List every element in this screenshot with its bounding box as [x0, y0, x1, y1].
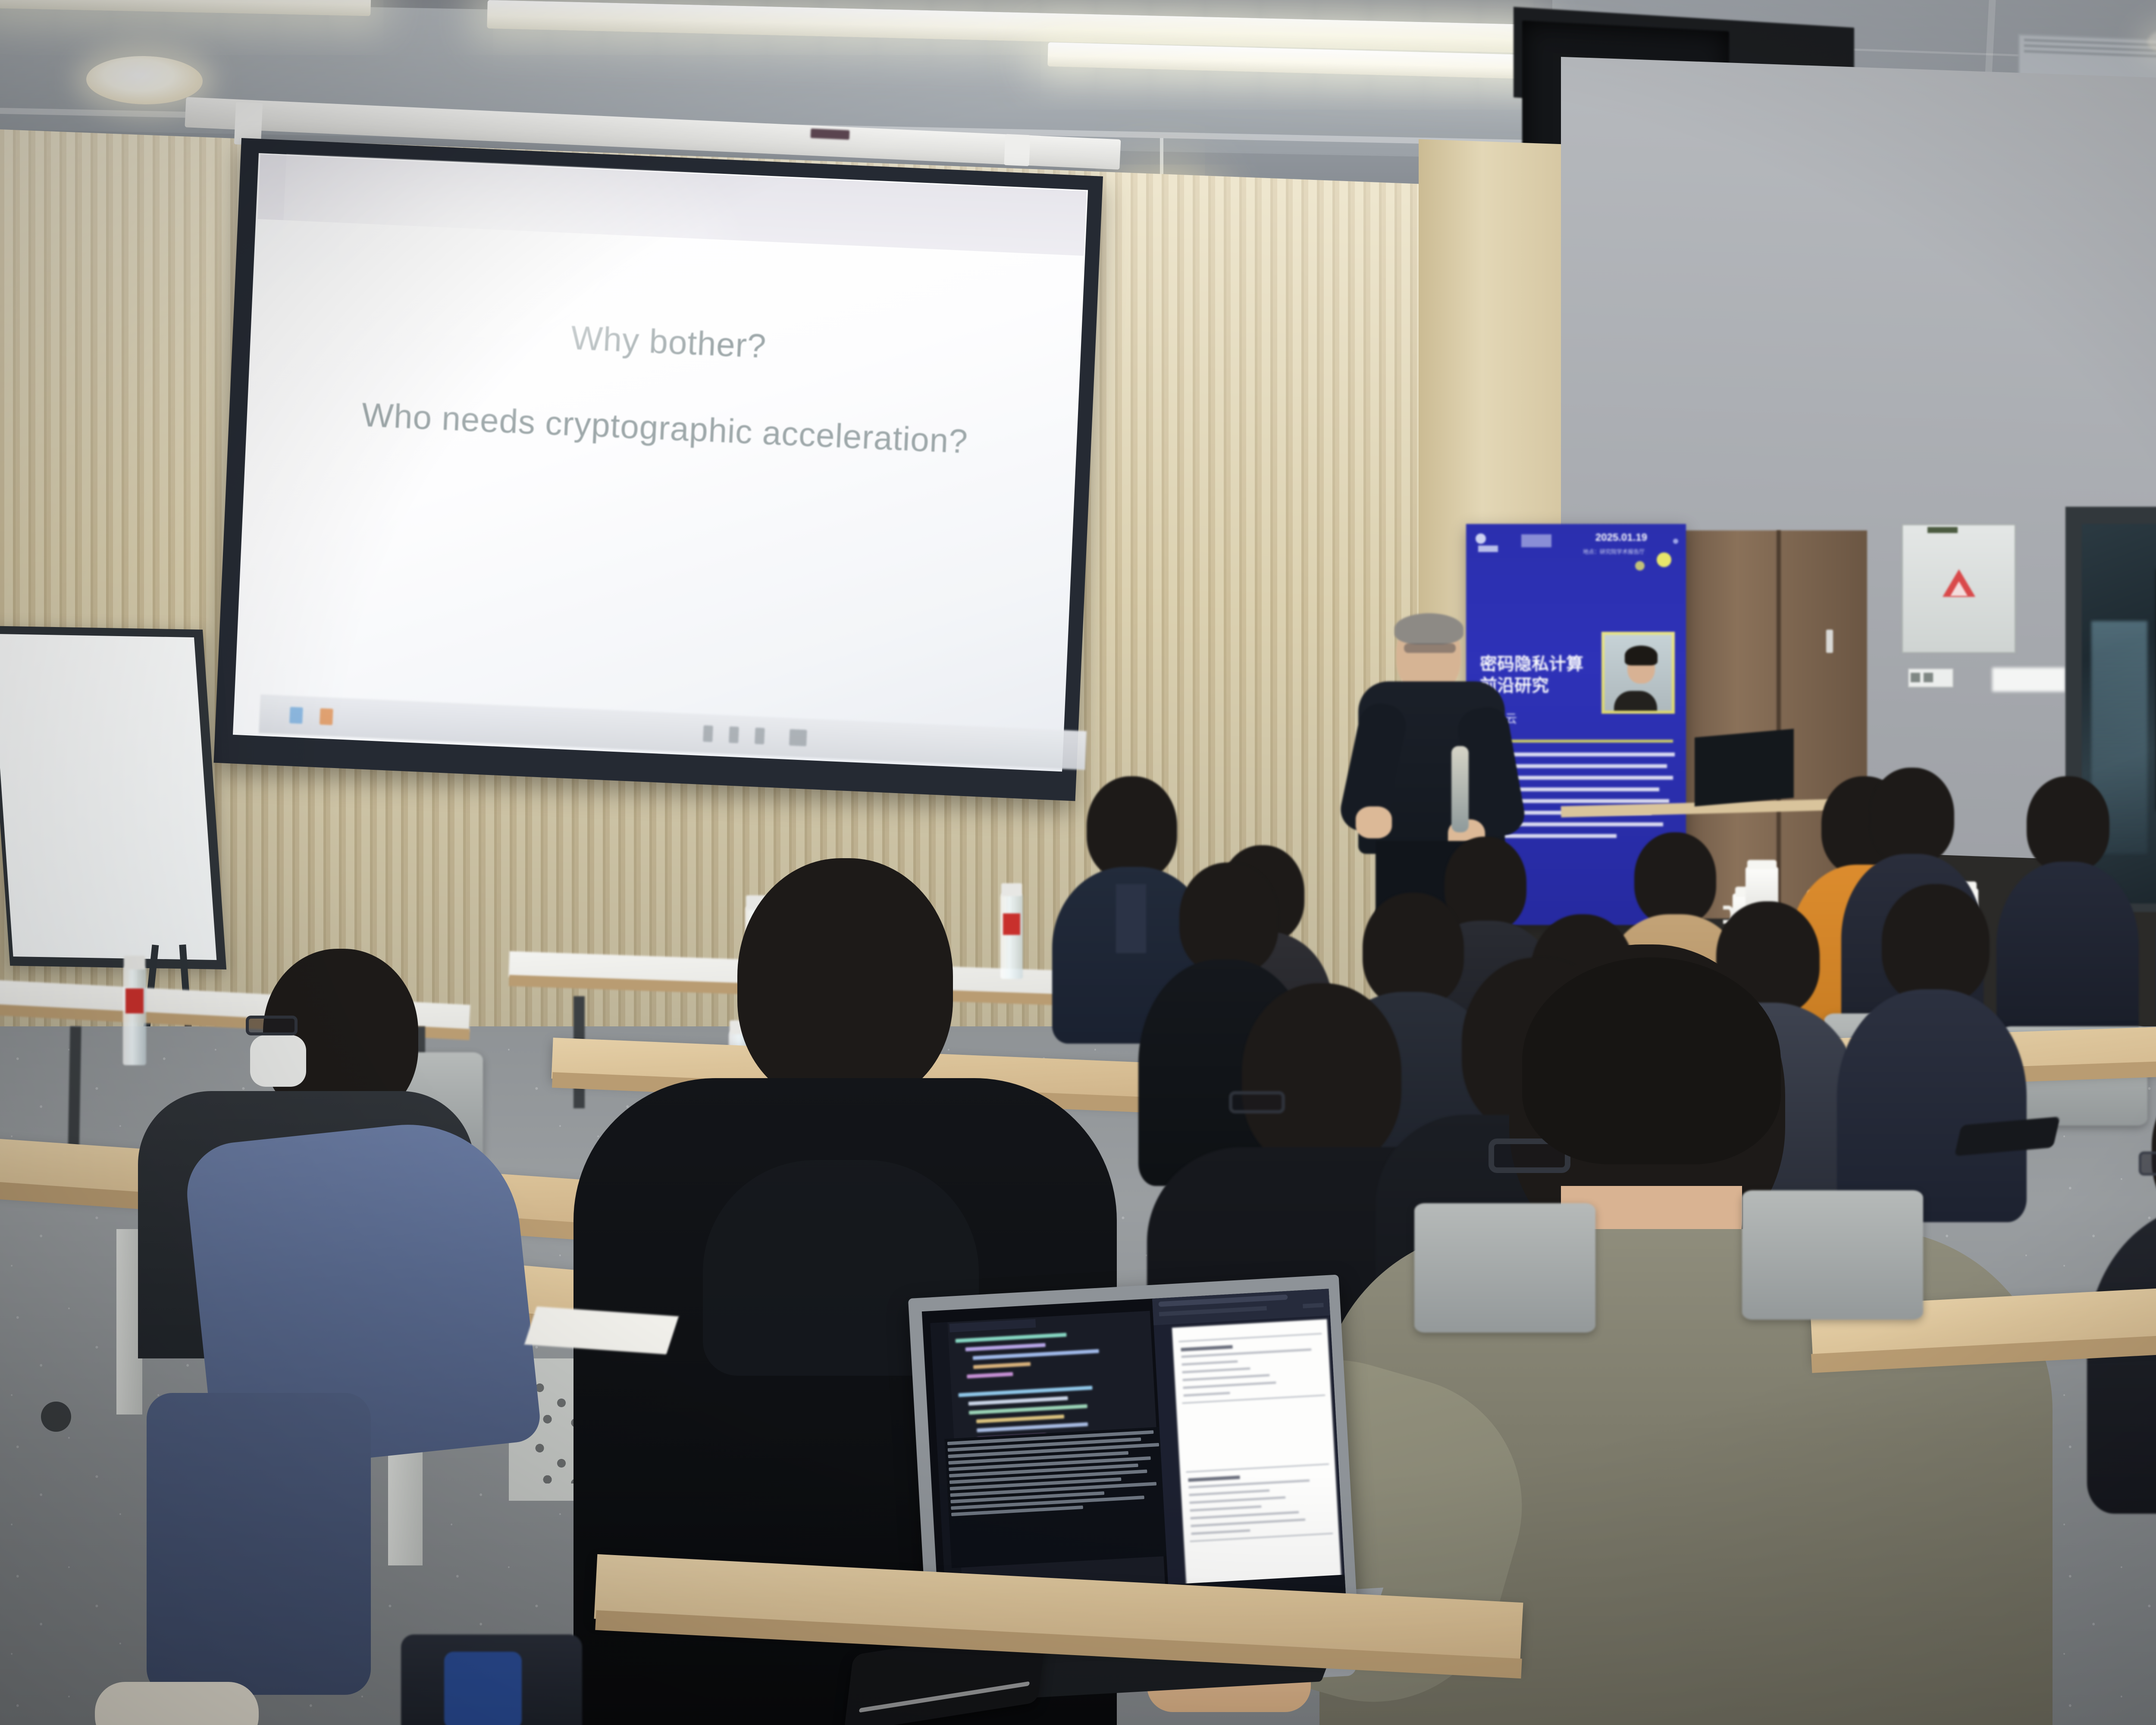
- tea-mug[interactable]: [1742, 858, 1783, 908]
- network-icon: [729, 726, 739, 743]
- presenter-laptop[interactable]: [1695, 729, 1794, 806]
- whiteboard-surface: [0, 634, 216, 960]
- banner-decor-dot: [1673, 539, 1678, 544]
- projector-hotspot: [275, 154, 760, 442]
- banner-date: 2025.01.19: [1595, 532, 1647, 544]
- electrical-hazard-triangle-inner-icon: [1950, 581, 1968, 596]
- banner-decor-dot: [1657, 552, 1671, 567]
- organization-logo-icon: [1476, 533, 1507, 545]
- wall-sign: [1992, 668, 2065, 692]
- presenter-hair: [1395, 613, 1463, 644]
- laptop-screen[interactable]: [922, 1289, 1346, 1621]
- banner-speaker-photo: [1601, 632, 1675, 714]
- editor-tab[interactable]: [949, 1319, 1036, 1332]
- panel-top-strip: [1927, 527, 1958, 533]
- battery-icon: [789, 729, 807, 746]
- chevron-up-icon: [703, 725, 713, 742]
- pdf-page: [1172, 1319, 1341, 1586]
- desk-leg: [68, 1026, 81, 1156]
- explorer-icon: [320, 708, 333, 725]
- backpack-accent: [444, 1652, 522, 1725]
- eyeglasses: [1229, 1091, 1285, 1113]
- pdf-algorithm-heading: [1181, 1345, 1232, 1352]
- eyeglasses: [2139, 1151, 2156, 1176]
- presenter-left-hand: [1356, 806, 1392, 838]
- face-mask: [250, 1035, 306, 1087]
- volume-icon: [755, 728, 765, 744]
- eyeglasses: [246, 1016, 298, 1035]
- terminal-panel[interactable]: [944, 1427, 1171, 1568]
- pdf-algorithm-heading: [1188, 1476, 1240, 1482]
- screen-bracket: [1004, 134, 1030, 166]
- windows-icon: [289, 707, 303, 724]
- foreground-person-hair: [1522, 957, 1781, 1164]
- audience-member-left: [121, 949, 573, 1725]
- zoom-control[interactable]: [1303, 1303, 1323, 1308]
- pdf-viewer-pane[interactable]: [1152, 1289, 1345, 1600]
- secondary-logo-icon: [1521, 534, 1551, 547]
- screen-control-button[interactable]: [811, 129, 850, 140]
- code-editor-pane[interactable]: [930, 1311, 1166, 1616]
- cabinet-handle[interactable]: [1826, 630, 1833, 653]
- microphone[interactable]: [1451, 746, 1469, 832]
- jeans-legs: [147, 1393, 371, 1695]
- chair[interactable]: [1742, 1190, 1923, 1320]
- chair[interactable]: [1414, 1203, 1595, 1333]
- presenter-glasses: [1404, 643, 1456, 653]
- sneaker: [95, 1682, 259, 1725]
- wall-outlet[interactable]: [1908, 668, 1953, 687]
- lecture-hall-photo: Why bother? Who needs cryptographic acce…: [0, 0, 2156, 1725]
- pdf-toolbar-row[interactable]: [1159, 1306, 1267, 1316]
- banner-decor-dot: [1635, 561, 1645, 571]
- desk-caster: [41, 1402, 71, 1432]
- banner-subtitle: 地点：研究院学术报告厅: [1583, 547, 1645, 555]
